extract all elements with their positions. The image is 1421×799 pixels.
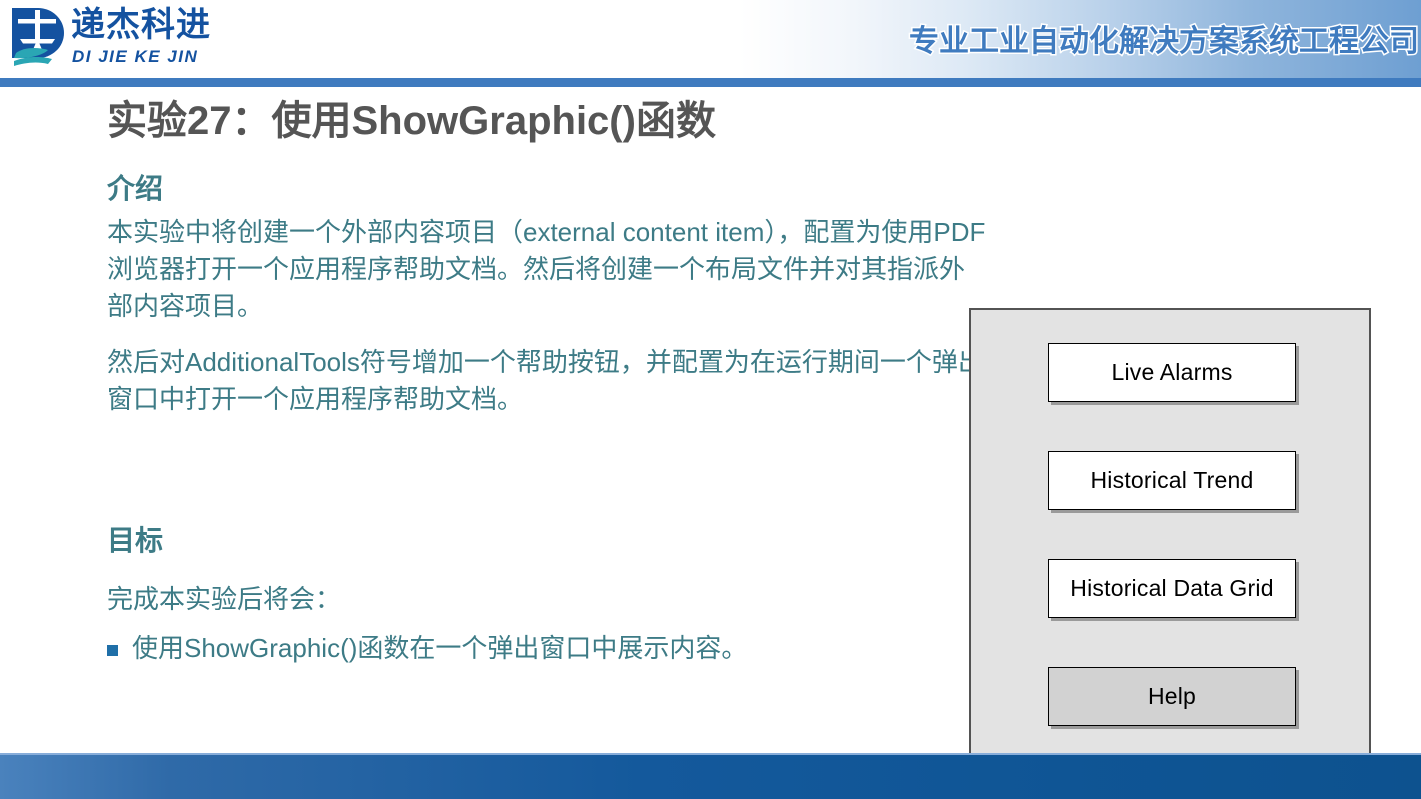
- company-logo-chinese-name: 递杰科进: [71, 8, 211, 44]
- slide-header: 专业工业自动化解决方案系统工程公司 递杰科进 DI JIE KE JIN: [0, 0, 1421, 78]
- help-button[interactable]: Help: [1048, 667, 1296, 726]
- live-alarms-button[interactable]: Live Alarms: [1048, 343, 1296, 402]
- header-divider-rule: [0, 78, 1421, 87]
- company-logo-mark-icon: [8, 6, 68, 70]
- header-banner-text: 专业工业自动化解决方案系统工程公司: [909, 27, 1419, 57]
- application-button-panel: Live Alarms Historical Trend Historical …: [969, 308, 1371, 759]
- intro-paragraph-2: 然后对AdditionalTools符号增加一个帮助按钮，并配置为在运行期间一个…: [107, 344, 987, 418]
- section-heading-goals: 目标: [107, 524, 163, 558]
- slide-footer-bar: [0, 753, 1421, 799]
- page-title: 实验27：使用ShowGraphic()函数: [107, 97, 716, 145]
- list-item: 使用ShowGraphic()函数在一个弹出窗口中展示内容。: [107, 630, 747, 666]
- company-logo: 递杰科进 DI JIE KE JIN: [8, 4, 238, 74]
- historical-trend-button[interactable]: Historical Trend: [1048, 451, 1296, 510]
- goals-lead-text: 完成本实验后将会：: [107, 581, 341, 617]
- slide-content: 实验27：使用ShowGraphic()函数 介绍 本实验中将创建一个外部内容项…: [0, 87, 1421, 753]
- square-bullet-icon: [107, 645, 118, 656]
- goals-bullet-text: 使用ShowGraphic()函数在一个弹出窗口中展示内容。: [132, 630, 747, 666]
- presentation-slide: 专业工业自动化解决方案系统工程公司 递杰科进 DI JIE KE JIN 实验2…: [0, 0, 1421, 799]
- historical-data-grid-button[interactable]: Historical Data Grid: [1048, 559, 1296, 618]
- section-heading-intro: 介绍: [107, 172, 163, 206]
- intro-paragraph-1: 本实验中将创建一个外部内容项目（external content item），配…: [107, 214, 987, 325]
- company-logo-english-name: DI JIE KE JIN: [72, 47, 198, 67]
